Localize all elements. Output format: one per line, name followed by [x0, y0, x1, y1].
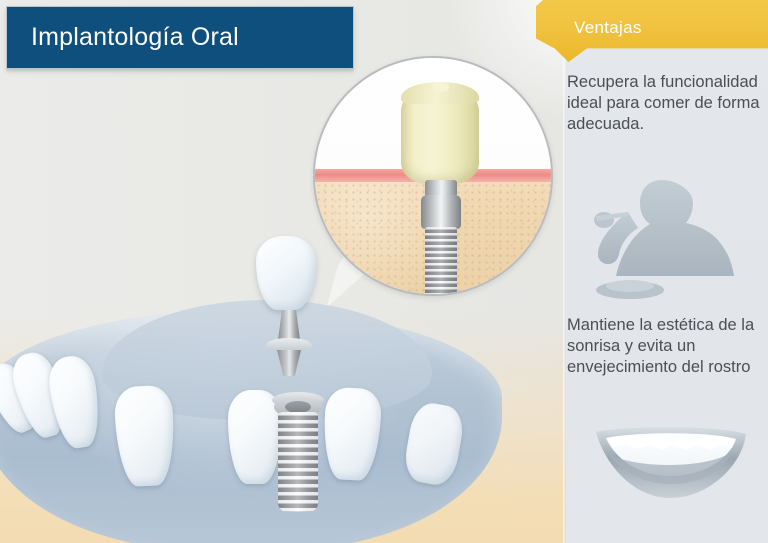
- advantages-tab-label: Ventajas: [574, 18, 642, 38]
- abutment-neck-icon: [421, 195, 461, 229]
- replacement-crown-icon: [256, 236, 316, 310]
- advantage-text-funcionalidad: Recupera la funcionalidad ideal para com…: [567, 72, 763, 135]
- callout-circle: [313, 56, 553, 296]
- smiling-mouth-icon: [592, 418, 752, 518]
- abutment-washer-icon: [266, 338, 312, 352]
- implant-screw-icon: [425, 227, 457, 296]
- advantages-tab[interactable]: Ventajas: [536, 0, 768, 62]
- person-eating-icon: [584, 176, 760, 302]
- implant-screw-body-icon: [278, 412, 318, 512]
- lower-jaw-arch: [0, 300, 502, 543]
- title-banner: Implantología Oral: [6, 6, 354, 69]
- advantage-text-estetica: Mantiene la estética de la sonrisa y evi…: [567, 315, 763, 378]
- infographic-canvas: Implantología Oral Ventajas: [0, 0, 768, 543]
- advantages-tab-shape: [536, 0, 768, 62]
- implant-cross-section-callout: [303, 56, 548, 314]
- page-title: Implantología Oral: [7, 23, 239, 52]
- crown-notch-icon: [433, 82, 449, 92]
